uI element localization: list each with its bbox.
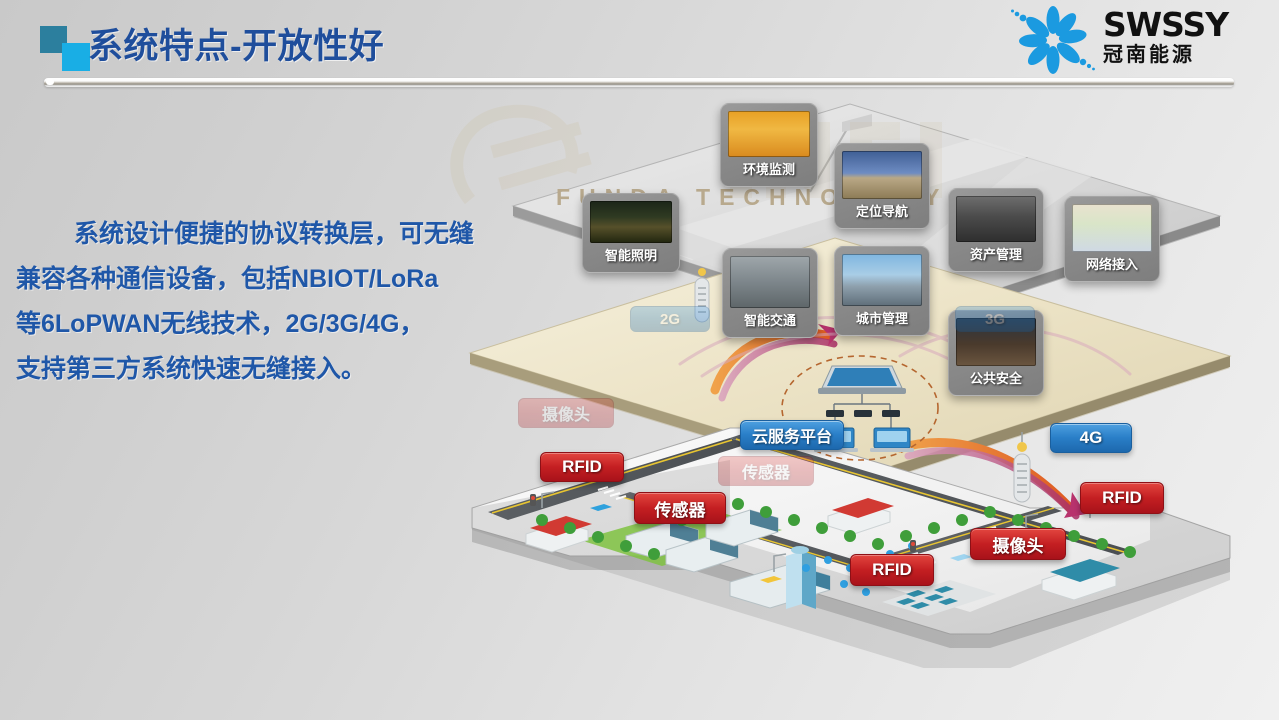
thumbnail-city-skyline: [842, 254, 922, 306]
badge-sensor[interactable]: 传感器: [634, 492, 726, 524]
app-card-city-management[interactable]: 城市管理: [834, 246, 930, 336]
logo-wordmark: SWSSY: [1103, 8, 1269, 42]
page-title: 系统特点-开放性好: [88, 18, 384, 69]
app-card-environment-monitoring[interactable]: 环境监测: [720, 103, 818, 187]
badge-4g[interactable]: 4G: [1050, 423, 1132, 453]
badge-sensor-ghost: 传感器: [718, 456, 814, 486]
header-accent-square-light: [62, 43, 90, 71]
app-card-label: 资产管理: [956, 242, 1036, 267]
app-card-label: 智能照明: [590, 243, 672, 268]
badge-rfid-center[interactable]: RFID: [850, 554, 934, 586]
app-card-label: 公共安全: [956, 366, 1036, 391]
app-card-label: 环境监测: [728, 157, 810, 182]
app-card-label: 智能交通: [730, 308, 810, 333]
logo-subtitle: 冠南能源: [1103, 44, 1269, 66]
app-card-smart-lighting[interactable]: 智能照明: [582, 193, 680, 273]
logo-text-block: SWSSY 冠南能源: [1103, 8, 1269, 66]
thumbnail-map-device: [1072, 204, 1152, 252]
slide-header: 系统特点-开放性好: [0, 0, 1279, 92]
company-logo: SWSSY 冠南能源: [1007, 4, 1269, 78]
badge-rfid-right[interactable]: RFID: [1080, 482, 1164, 514]
app-card-label: 网络接入: [1072, 252, 1152, 277]
water-droplet-flower-icon: [1007, 6, 1099, 74]
badge-cloud-platform[interactable]: 云服务平台: [740, 420, 844, 450]
slide-canvas: 系统特点-开放性好: [0, 0, 1279, 720]
badge-3g[interactable]: 3G: [955, 306, 1035, 332]
badge-2g[interactable]: 2G: [630, 306, 710, 332]
app-card-label: 城市管理: [842, 306, 922, 331]
badge-camera-ghost: 摄像头: [518, 398, 614, 428]
app-card-positioning-navigation[interactable]: 定位导航: [834, 143, 930, 229]
badge-rfid-left[interactable]: RFID: [540, 452, 624, 482]
thumbnail-night-city-lighting: [590, 201, 672, 243]
badge-camera[interactable]: 摄像头: [970, 528, 1066, 560]
thumbnail-highway-truck: [842, 151, 922, 199]
app-card-network-access[interactable]: 网络接入: [1064, 196, 1160, 282]
iot-architecture-diagram: FUNDA TECHNOLOGY 智能照明 环境监测 智能交通 定位导航 城市管…: [430, 88, 1279, 668]
title-divider-rule: [44, 78, 1234, 87]
thumbnail-traffic-jam: [730, 256, 810, 308]
thumbnail-factory-smoke: [728, 111, 810, 157]
app-card-label: 定位导航: [842, 199, 922, 224]
thumbnail-manhole-cover: [956, 196, 1036, 242]
app-card-asset-management[interactable]: 资产管理: [948, 188, 1044, 272]
app-card-smart-traffic[interactable]: 智能交通: [722, 248, 818, 338]
